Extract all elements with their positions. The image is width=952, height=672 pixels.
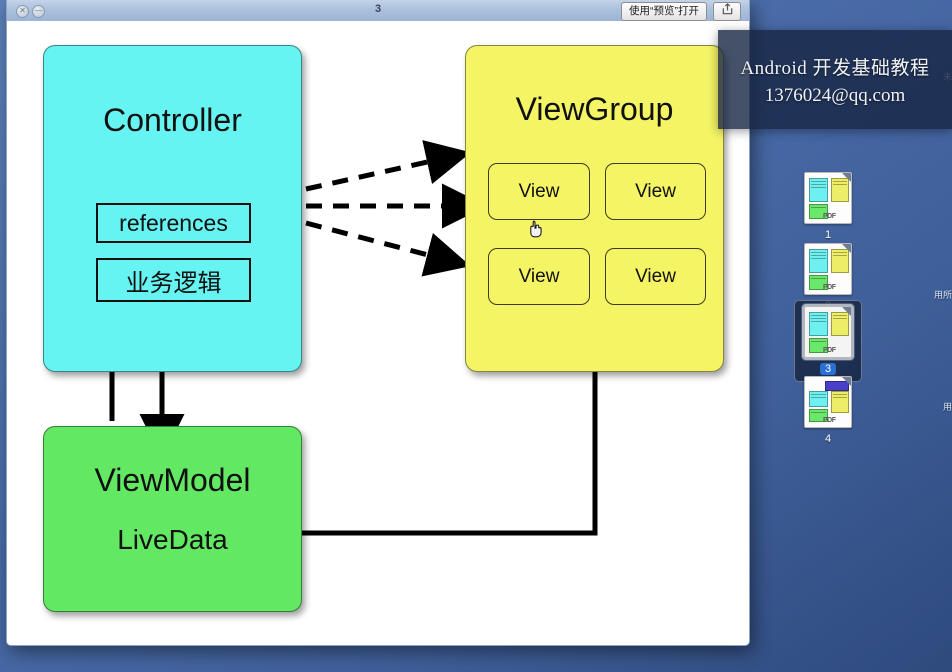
watermark-overlay: Android 开发基础教程 1376024@qq.com <box>718 30 952 129</box>
dashed-arrow-group <box>306 161 447 256</box>
desktop-icon-4[interactable]: PDF 4 <box>794 376 862 445</box>
livedata-label: LiveData <box>44 524 301 556</box>
desktop-icon-label-1: 1 <box>794 229 862 241</box>
preview-window: ✕ — 3 使用“预览”打开 <box>6 0 750 646</box>
window-titlebar[interactable]: ✕ — 3 使用“预览”打开 <box>7 0 749 22</box>
controller-node[interactable]: Controller references 业务逻辑 <box>43 45 302 372</box>
controller-title: Controller <box>44 102 301 139</box>
desktop-icon-label-3: 3 <box>820 363 836 375</box>
icon-wrap: PDF 4 <box>794 376 862 445</box>
pdf-label: PDF <box>823 417 836 424</box>
arrow-viewmodel-to-viewgroup <box>302 359 595 533</box>
view-box-3[interactable]: View <box>488 248 590 305</box>
pdf-file-icon: PDF <box>804 376 852 428</box>
view-box-1[interactable]: View <box>488 163 590 220</box>
view-box-2[interactable]: View <box>605 163 706 220</box>
desktop-icon-label-4: 4 <box>794 433 862 445</box>
share-icon[interactable] <box>713 2 741 21</box>
pdf-file-icon: PDF <box>804 306 852 358</box>
viewmodel-node[interactable]: ViewModel LiveData <box>43 426 302 612</box>
watermark-title: Android 开发基础教程 <box>740 53 929 80</box>
pdf-label: PDF <box>823 284 836 291</box>
edge-label-2: 用所 <box>934 288 952 301</box>
pdf-file-icon: PDF <box>804 172 852 224</box>
pdf-label: PDF <box>823 347 836 354</box>
watermark-email: 1376024@qq.com <box>765 85 905 107</box>
references-box[interactable]: references <box>96 203 251 243</box>
pdf-label: PDF <box>823 213 836 220</box>
viewgroup-title: ViewGroup <box>466 91 723 128</box>
desktop-icon-3[interactable]: PDF 3 <box>794 300 862 382</box>
pdf-file-icon: PDF <box>804 243 852 295</box>
icon-wrap: PDF 1 <box>794 172 862 241</box>
open-with-preview-button[interactable]: 使用“预览”打开 <box>621 2 707 21</box>
pointing-hand-cursor <box>528 220 545 239</box>
viewgroup-node[interactable]: ViewGroup View View View View <box>465 45 724 372</box>
viewmodel-title: ViewModel <box>44 462 301 499</box>
icon-wrap-selected: PDF 3 <box>794 300 862 382</box>
document-canvas: Controller references 业务逻辑 ViewGroup Vie… <box>7 21 749 645</box>
desktop-icon-1[interactable]: PDF 1 <box>794 172 862 241</box>
view-box-4[interactable]: View <box>605 248 706 305</box>
edge-label-3: 用 <box>943 400 952 413</box>
business-logic-box[interactable]: 业务逻辑 <box>96 258 251 302</box>
